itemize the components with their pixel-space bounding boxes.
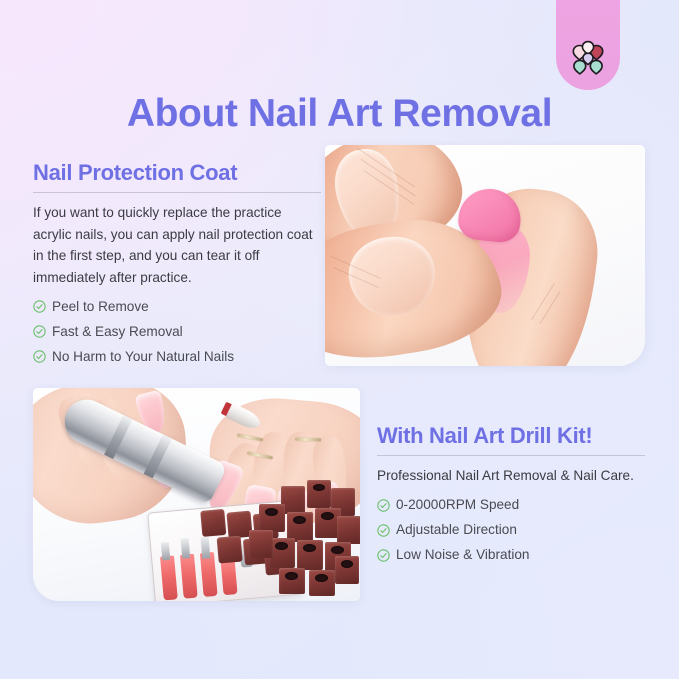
- list-item-label: Fast & Easy Removal: [52, 321, 183, 343]
- flower-hearts-icon: [565, 38, 611, 84]
- check-circle-icon: [377, 549, 390, 562]
- check-circle-icon: [377, 524, 390, 537]
- list-item: 0-20000RPM Speed: [377, 493, 645, 518]
- check-circle-icon: [33, 325, 46, 338]
- check-circle-icon: [377, 499, 390, 512]
- section-body: Professional Nail Art Removal & Nail Car…: [377, 465, 645, 486]
- page-title: About Nail Art Removal: [0, 94, 679, 135]
- drill-kit-in-use-photo: [33, 388, 360, 601]
- peeling-nail-coat-photo: [325, 145, 645, 366]
- section-title: Nail Protection Coat: [33, 160, 321, 185]
- list-item-label: Adjustable Direction: [396, 519, 517, 541]
- section-body: If you want to quickly replace the pract…: [33, 202, 321, 288]
- bullet-list: 0-20000RPM Speed Adjustable Direction Lo…: [377, 493, 645, 568]
- list-item: Low Noise & Vibration: [377, 543, 645, 568]
- section-title: With Nail Art Drill Kit!: [377, 423, 645, 448]
- list-item-label: No Harm to Your Natural Nails: [52, 346, 234, 368]
- section-nail-art-drill-kit: With Nail Art Drill Kit! Professional Na…: [377, 423, 645, 568]
- list-item-label: Low Noise & Vibration: [396, 544, 530, 566]
- list-item: Fast & Easy Removal: [33, 319, 321, 344]
- title-divider: [377, 455, 645, 456]
- list-item-label: 0-20000RPM Speed: [396, 494, 519, 516]
- list-item-label: Peel to Remove: [52, 296, 149, 318]
- section-nail-protection-coat: Nail Protection Coat If you want to quic…: [33, 160, 321, 369]
- check-circle-icon: [33, 300, 46, 313]
- list-item: Peel to Remove: [33, 294, 321, 319]
- check-circle-icon: [33, 350, 46, 363]
- list-item: No Harm to Your Natural Nails: [33, 344, 321, 369]
- infographic-page: About Nail Art Removal Nail Protection C…: [0, 0, 679, 679]
- title-divider: [33, 192, 321, 193]
- bullet-list: Peel to Remove Fast & Easy Removal No Ha…: [33, 294, 321, 369]
- list-item: Adjustable Direction: [377, 518, 645, 543]
